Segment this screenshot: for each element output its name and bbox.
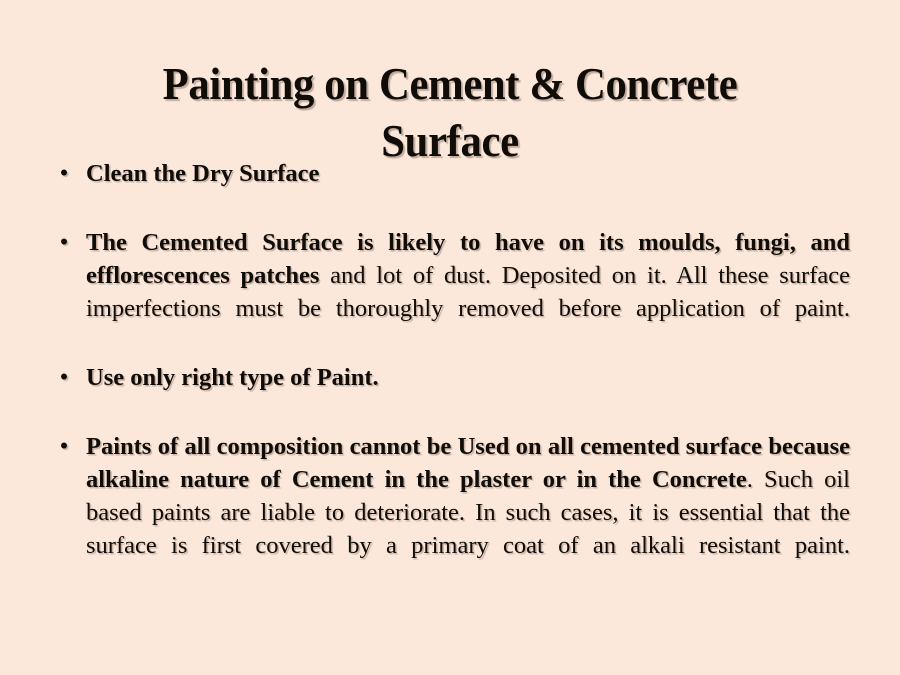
bullet-text-4: Paints of all composition cannot be Used… [86,430,850,595]
page-title: Painting on Cement & Concrete Surface [89,56,811,170]
bullet-point-icon: • [55,157,73,190]
bullet-text-1: Clean the Dry Surface [86,157,850,223]
list-item: • Paints of all composition cannot be Us… [50,430,850,595]
list-item: • Use only right type of Paint. [50,361,850,427]
bullet-bold-3: Use only right type of Paint. [86,364,379,391]
list-item: • The Cemented Surface is likely to have… [50,226,850,358]
bullet-point-icon: • [55,226,73,259]
bullet-bold-1: Clean the Dry Surface [86,160,319,187]
bullet-text-3: Use only right type of Paint. [86,361,850,427]
bullet-text-2: The Cemented Surface is likely to have o… [86,226,850,358]
bullet-point-icon: • [55,430,73,463]
bullet-list: • Clean the Dry Surface • The Cemented S… [50,157,850,598]
list-item: • Clean the Dry Surface [50,157,850,223]
bullet-bold-4: Paints of all composition cannot be Used… [86,433,850,493]
slide-canvas: Painting on Cement & Concrete Surface • … [0,0,900,675]
bullet-point-icon: • [55,361,73,394]
